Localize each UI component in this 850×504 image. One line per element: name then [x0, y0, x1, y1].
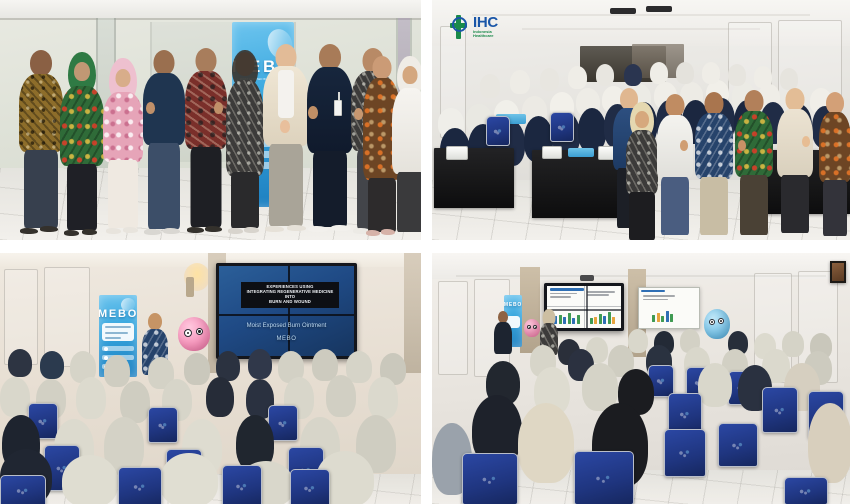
equipment-tray [568, 148, 594, 157]
person [656, 94, 694, 240]
person [776, 88, 814, 240]
equipment-box [446, 146, 468, 160]
person [306, 44, 354, 238]
ihc-tagline-2: Healthcare [473, 34, 498, 38]
bar-chart-projected [652, 309, 673, 323]
pillar [520, 267, 540, 353]
ceiling-vent [646, 6, 672, 12]
person [60, 52, 104, 238]
photo-top-right[interactable]: IHC Indonesia Healthcare [432, 0, 850, 240]
slide-subtitle-line-2: MEBO [219, 336, 354, 342]
equipment-box [542, 146, 562, 159]
id-badge [334, 100, 342, 116]
person [624, 102, 660, 240]
photo-collage: MEBO MOIST EXPOSED BURN OINTMENT [0, 0, 850, 504]
slide-title-block: EXPERIENCES USING INTEGRATING REGENERATI… [241, 282, 339, 308]
person [224, 52, 266, 238]
bar-chart-left [554, 311, 580, 324]
mebo-wordmark: MEBO [504, 303, 522, 308]
projection-screen [638, 287, 700, 329]
person [142, 50, 186, 238]
framed-portrait [830, 261, 846, 283]
slide-title-line-3: BURN AND WOUND [269, 300, 311, 305]
mebo-wordmark: MEBO [99, 309, 137, 320]
photo-bottom-right[interactable]: MEBO [432, 253, 850, 504]
mascot-balloon-pink [178, 317, 210, 351]
video-wall: EXPERIENCES USING INTEGRATING REGENERATI… [216, 263, 357, 359]
ceiling-trim [0, 18, 421, 20]
ceiling [0, 0, 421, 18]
bar-chart-right [590, 311, 616, 324]
photo-top-left[interactable]: MEBO MOIST EXPOSED BURN OINTMENT [0, 0, 421, 240]
ihc-mark-icon [448, 14, 470, 40]
person [694, 92, 734, 240]
pillar [404, 253, 421, 373]
chair [486, 116, 510, 146]
wall-sconce [186, 277, 194, 297]
ihc-wordmark: IHC [473, 16, 498, 30]
person [734, 90, 774, 240]
ihc-wall-logo: IHC Indonesia Healthcare [448, 14, 498, 40]
mascot-balloon-pink [524, 319, 540, 337]
data-slide [547, 286, 621, 328]
slide-subtitle-line-1: Moist Exposed Burn Ointment [219, 323, 354, 329]
banner-callout-card [102, 323, 134, 341]
person [262, 44, 310, 238]
presenter [494, 311, 512, 353]
ceiling-vent [610, 8, 636, 14]
projector-mount [580, 275, 594, 281]
person [18, 50, 64, 235]
person [818, 92, 850, 240]
person [102, 58, 144, 238]
person [184, 48, 228, 238]
person [392, 56, 421, 238]
mascot-balloon-blue [704, 309, 730, 339]
photo-bottom-left[interactable]: EXPERIENCES USING INTEGRATING REGENERATI… [0, 253, 421, 504]
chair [550, 112, 574, 142]
